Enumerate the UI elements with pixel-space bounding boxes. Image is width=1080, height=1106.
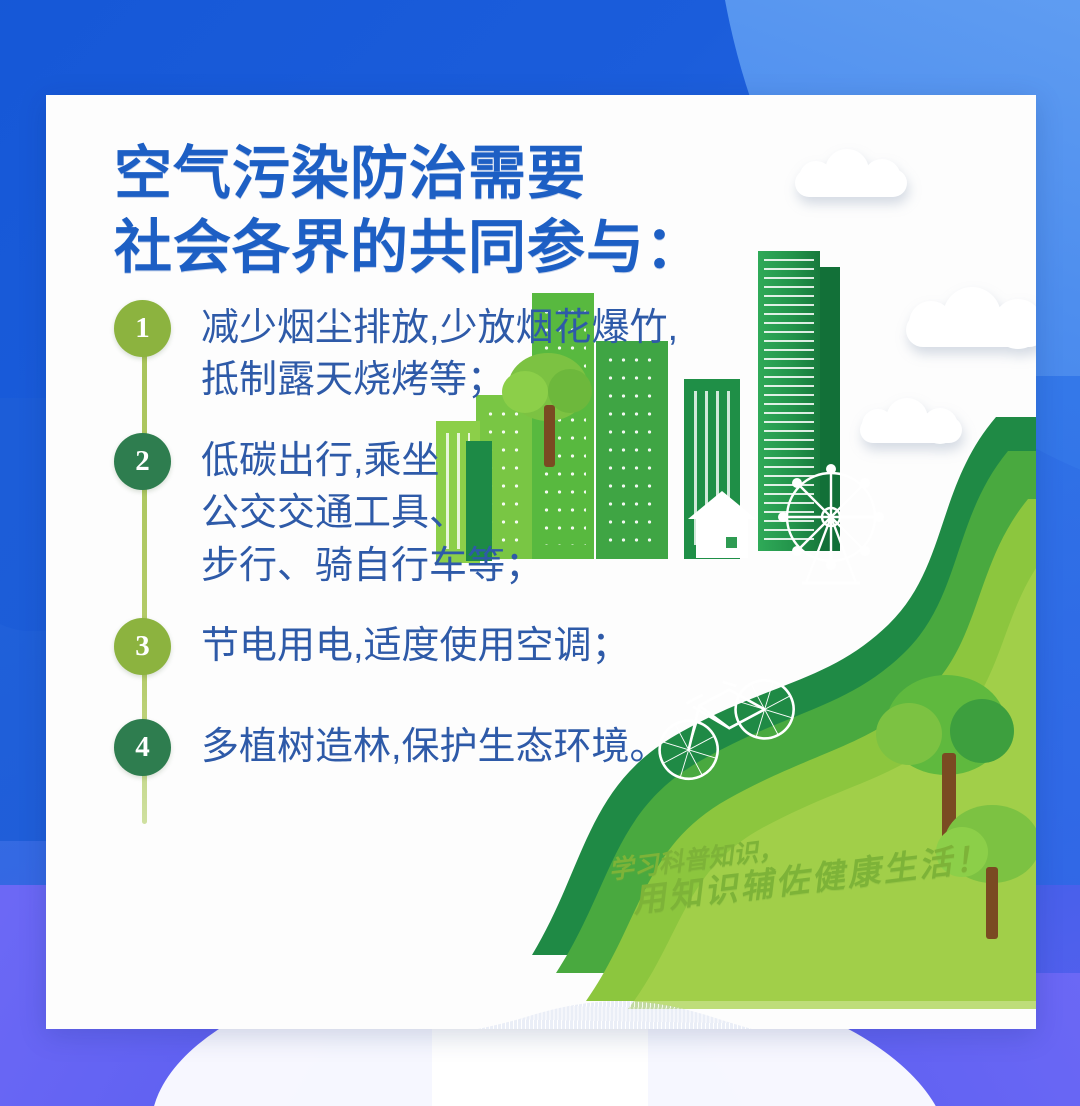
list-item: 3 节电用电,适度使用空调； [114,618,844,675]
list-item-text: 节电用电,适度使用空调； [201,618,630,672]
list-number-badge: 1 [114,300,171,357]
footer-banner: 钦州发布 × 钦州市科学技术协会 [346,995,806,1029]
list-number-badge: 3 [114,618,171,675]
list-number-badge: 4 [114,719,171,776]
list-item: 2 低碳出行,乘坐 公交交通工具、 步行、骑自行车等； [114,433,844,592]
page-title: 空气污染防治需要 社会各界的共同参与： [114,137,704,285]
list-item-text: 低碳出行,乘坐 公交交通工具、 步行、骑自行车等； [201,433,543,592]
list-number-badge: 2 [114,433,171,490]
cloud-icon [791,147,911,199]
recommendation-list: 1 减少烟尘排放,少放烟花爆竹, 抵制露天烧烤等； 2 低碳出行,乘坐 公交交通… [114,300,844,802]
list-item-text: 多植树造林,保护生态环境。 [201,719,668,773]
list-item-text: 减少烟尘排放,少放烟花爆竹, 抵制露天烧烤等； [201,300,678,407]
poster-card: 空气污染防治需要 社会各界的共同参与： 1 减少烟尘排放,少放烟花爆竹, 抵制露… [46,95,1036,1029]
list-item: 4 多植树造林,保护生态环境。 [114,719,844,776]
poster-stage: 空气污染防治需要 社会各界的共同参与： 1 减少烟尘排放,少放烟花爆竹, 抵制露… [0,0,1080,1106]
list-item: 1 减少烟尘排放,少放烟花爆竹, 抵制露天烧烤等； [114,300,844,407]
banner-wave-graphic [346,995,806,1029]
